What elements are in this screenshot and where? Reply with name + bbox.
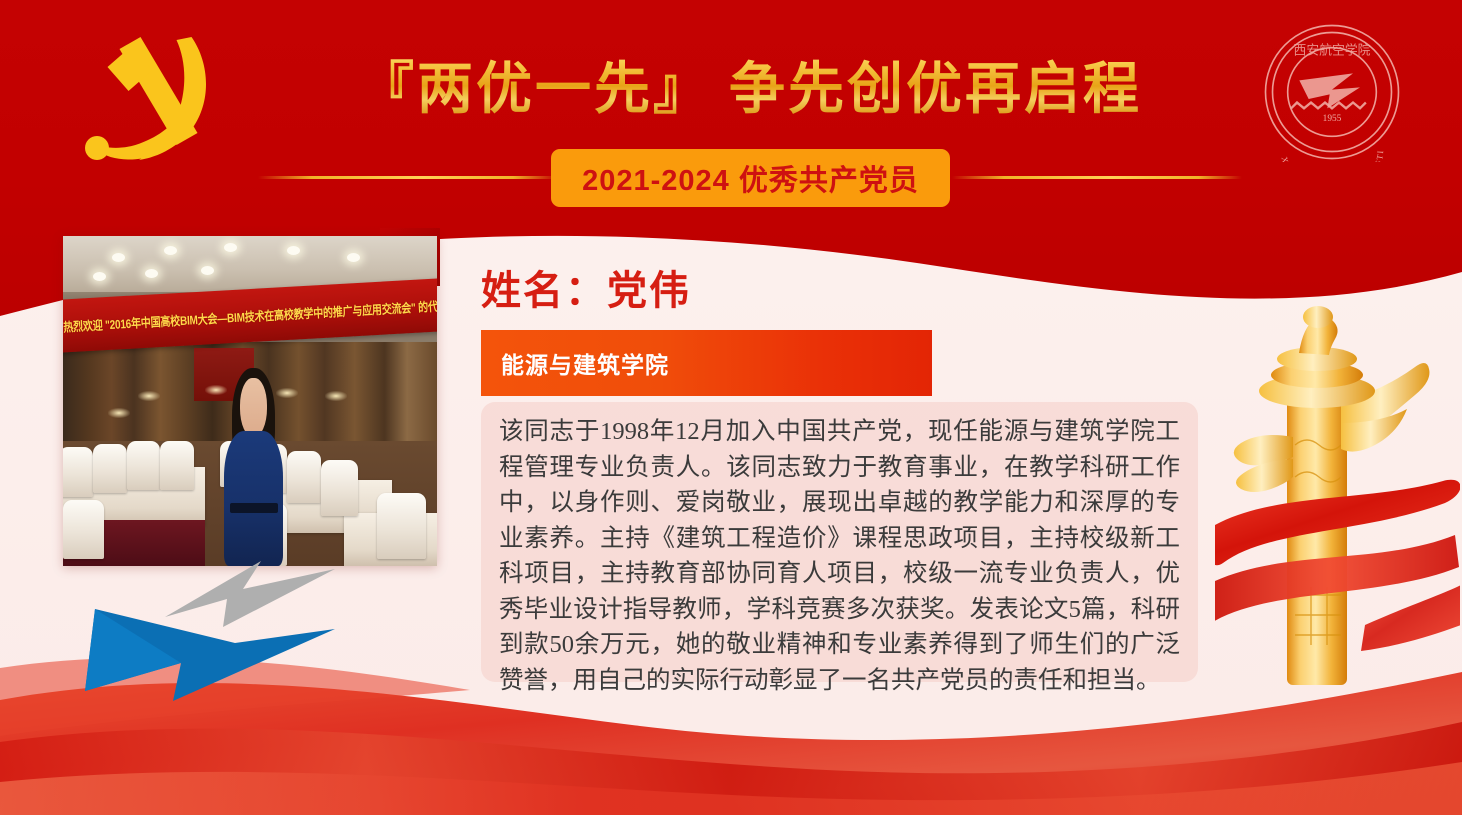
college-label: 能源与建筑学院 <box>481 346 669 380</box>
person-figure <box>222 368 286 566</box>
huabiao-column-icon <box>1215 295 1460 695</box>
profile-name: 姓名：党伟 <box>481 258 691 316</box>
bio-panel: 该同志于1998年12月加入中国共产党，现任能源与建筑学院工程管理专业负责人。该… <box>481 402 1198 682</box>
subtitle-badge[interactable]: 2021-2024 优秀共产党员 <box>551 149 950 207</box>
college-banner: 能源与建筑学院 <box>481 330 932 396</box>
poster-root: 『两优一先』 争先创优再启程 1955 西安航空学院 XI' AN AERONA… <box>0 0 1462 815</box>
blue-aircraft-swoosh-icon <box>85 595 335 705</box>
profile-photo: 热烈欢迎 "2016年中国高校BIM大会—BIM技术在高校教学中的推广与应用交流… <box>63 236 437 566</box>
bio-text: 该同志于1998年12月加入中国共产党，现任能源与建筑学院工程管理专业负责人。该… <box>499 414 1180 698</box>
photo-banner-text: 热烈欢迎 "2016年中国高校BIM大会—BIM技术在高校教学中的推广与应用交流… <box>63 295 437 336</box>
